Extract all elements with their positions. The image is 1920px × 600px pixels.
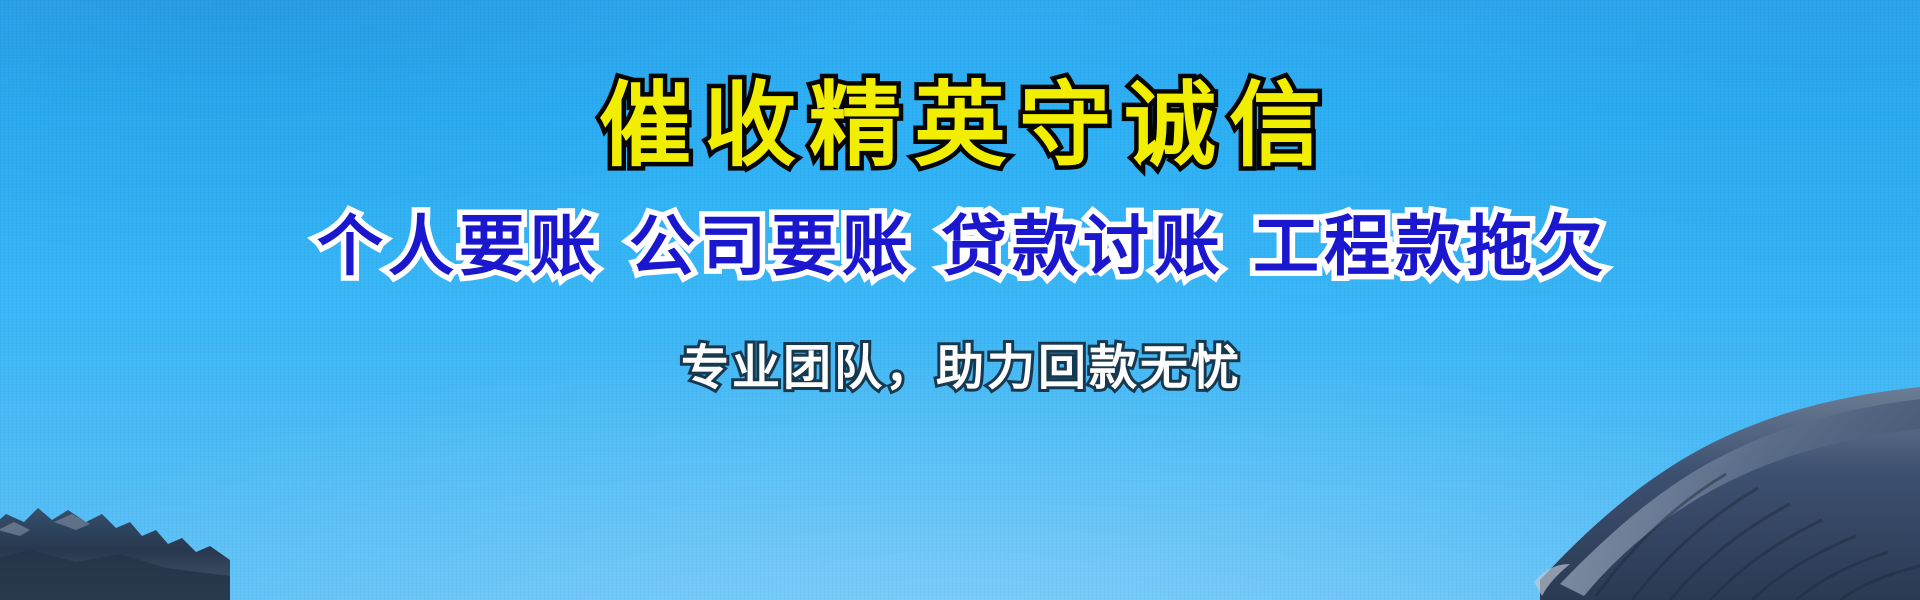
promo-banner: 催收精英守诚信 个人要账 公司要账 贷款讨账 工程款拖欠 专业团队，助力回款无忧 bbox=[0, 0, 1920, 600]
page-title: 催收精英守诚信 bbox=[586, 78, 1334, 175]
tagline: 专业团队，助力回款无忧 bbox=[678, 341, 1242, 396]
service-list: 个人要账 公司要账 贷款讨账 工程款拖欠 bbox=[312, 211, 1608, 284]
banner-text-stack: 催收精英守诚信 个人要账 公司要账 贷款讨账 工程款拖欠 专业团队，助力回款无忧 bbox=[0, 0, 1920, 600]
